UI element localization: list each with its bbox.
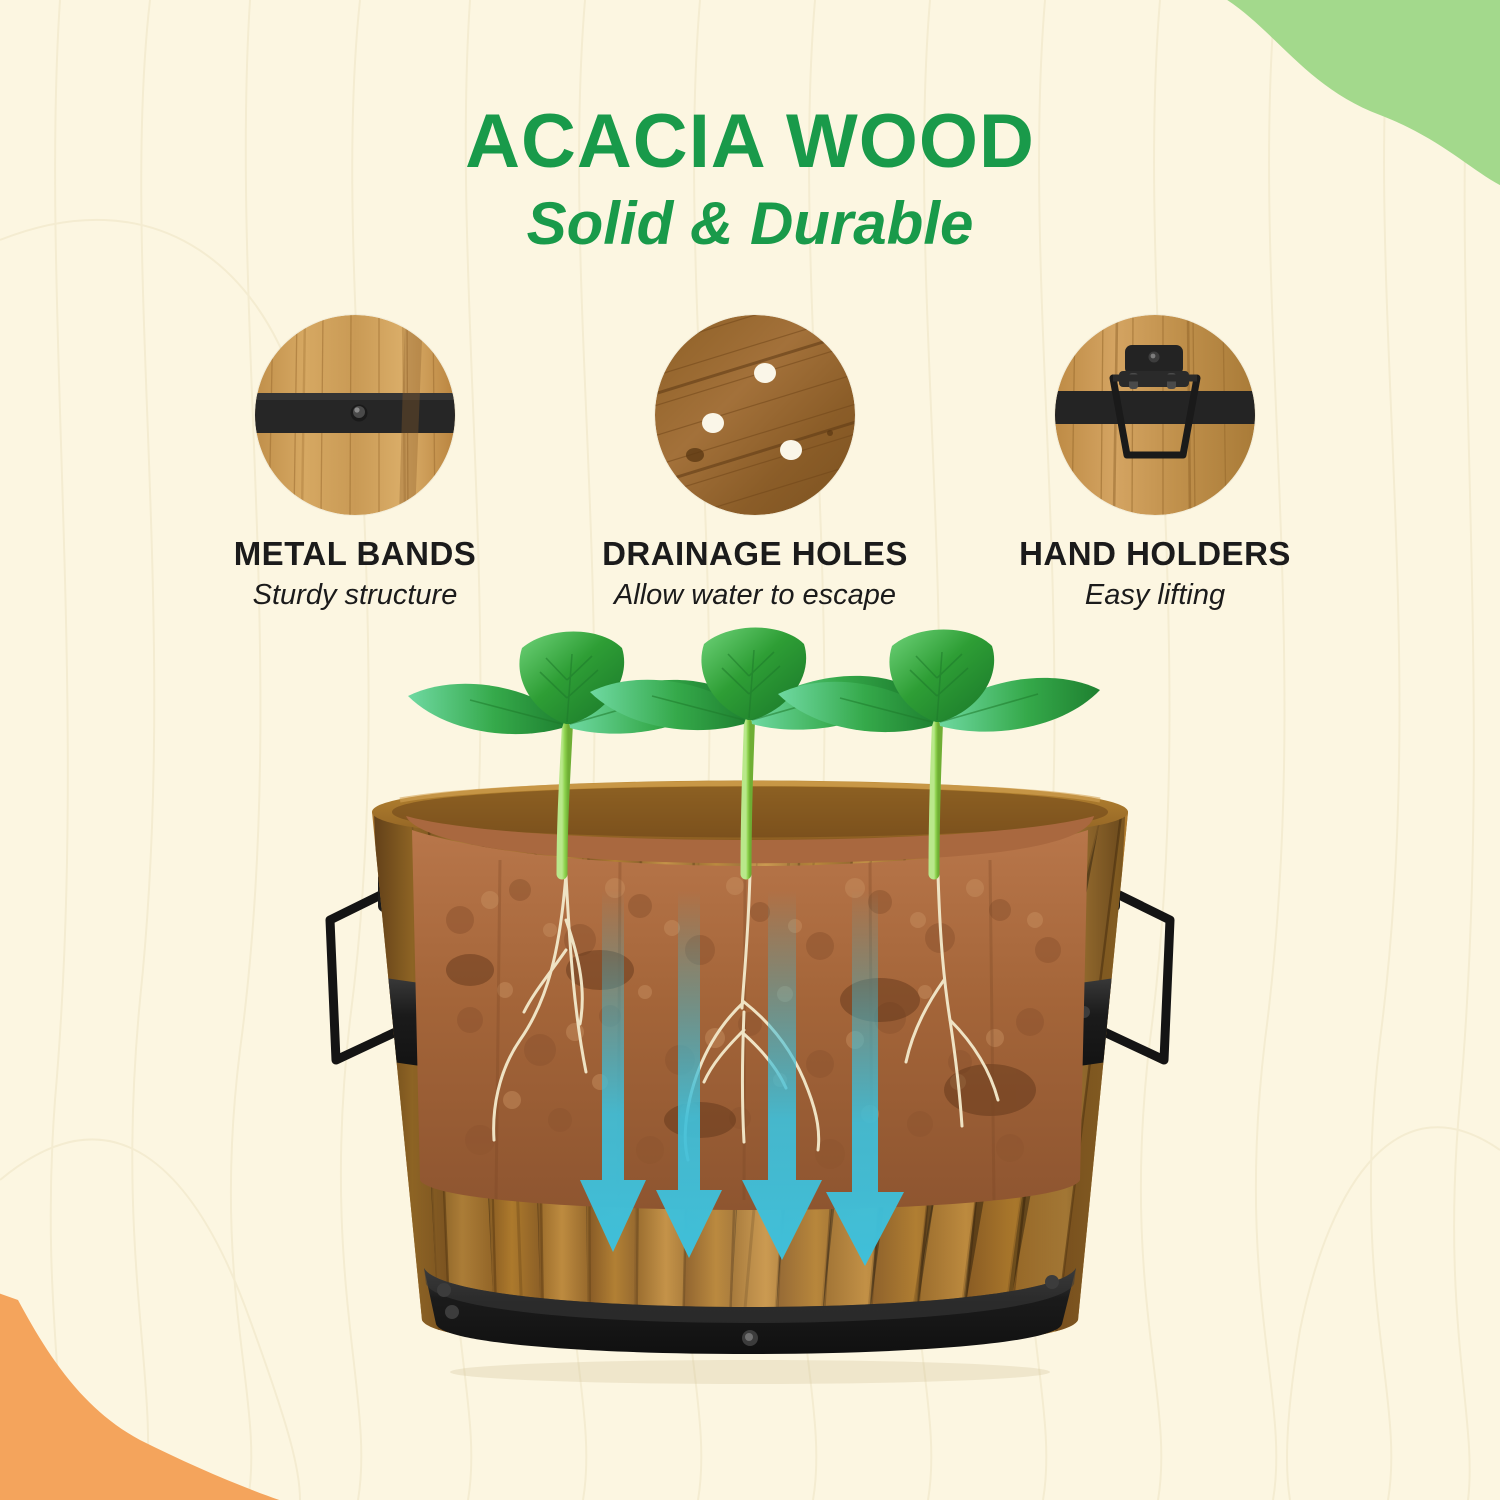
planter-illustration [0,620,1500,1420]
metal-band-photo [255,315,455,515]
header-block: ACACIA WOOD Solid & Durable [0,104,1500,254]
feature-list: METAL BANDS Sturdy structure [0,315,1500,615]
feature-title: DRAINAGE HOLES [545,537,965,572]
page-title: ACACIA WOOD [0,104,1500,180]
feature-item-hand-holders: HAND HOLDERS Easy lifting [945,315,1365,610]
product-infographic: ACACIA WOOD Solid & Durable [0,0,1500,1500]
page-subtitle: Solid & Durable [0,194,1500,254]
feature-title: HAND HOLDERS [945,537,1365,572]
feature-subtitle: Sturdy structure [145,580,565,610]
ground-shadow [450,1360,1050,1384]
feature-item-drainage-holes: DRAINAGE HOLES Allow water to escape [545,315,965,610]
feature-title: METAL BANDS [145,537,565,572]
drainage-holes-photo [655,315,855,515]
hand-holder-photo [1055,315,1255,515]
feature-item-metal-bands: METAL BANDS Sturdy structure [145,315,565,610]
feature-subtitle: Easy lifting [945,580,1365,610]
feature-subtitle: Allow water to escape [545,580,965,610]
